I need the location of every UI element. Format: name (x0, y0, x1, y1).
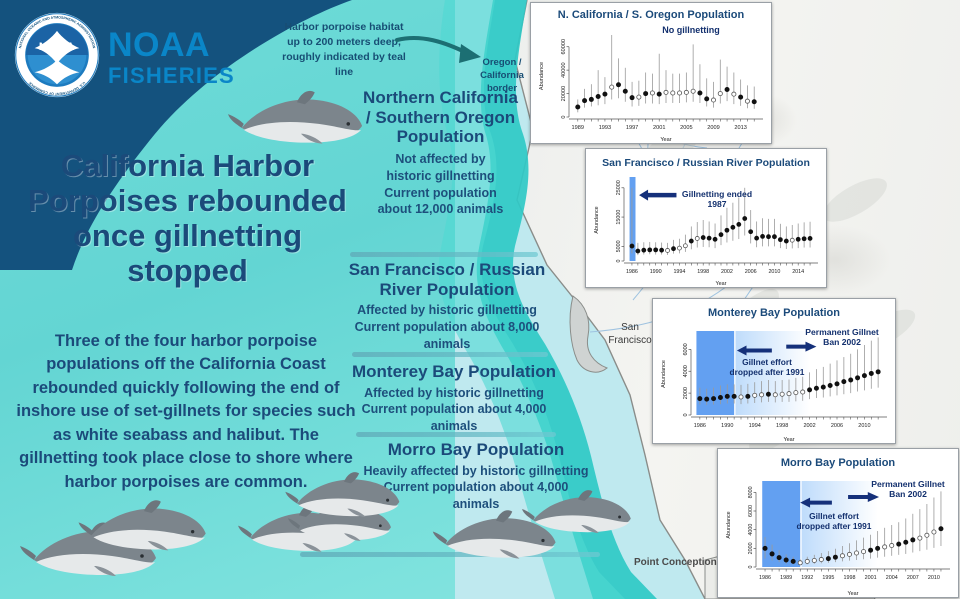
porpoise-illustration (522, 488, 634, 538)
section-divider (356, 432, 556, 437)
population-line: about 12,000 animals (363, 201, 518, 218)
y-tick-label: 20000 (561, 86, 567, 102)
data-point (739, 95, 743, 99)
x-tick-label: 2010 (768, 269, 780, 275)
population-title: San Francisco / Russian River Population (333, 260, 561, 299)
data-point (805, 559, 809, 563)
chart-annotation-no-gillnetting: No gillnetting (631, 25, 751, 36)
data-point (752, 100, 756, 104)
x-tick-label: 2004 (886, 575, 898, 581)
data-point (644, 91, 648, 95)
y-tick-label: 8000 (748, 486, 754, 498)
data-point (701, 236, 705, 240)
x-axis-label: Year (848, 591, 859, 597)
data-point (939, 527, 943, 531)
x-tick-label: 2009 (707, 125, 719, 131)
porpoise-illustration (78, 498, 210, 556)
data-point (883, 545, 887, 549)
data-point (739, 395, 743, 399)
chart-annotation-gillnetting-ended: Gillnetting ended 1987 (674, 189, 760, 210)
chart-card-sfrr: San Francisco / Russian River Population… (585, 148, 827, 288)
data-point (677, 246, 681, 250)
population-block-sfrr: San Francisco / Russian River Population… (333, 260, 561, 353)
data-point (582, 99, 586, 103)
x-tick-label: 1997 (626, 125, 638, 131)
data-point (904, 540, 908, 544)
data-point (784, 239, 788, 243)
data-point (576, 105, 580, 109)
logo-noaa-text: NOAA (108, 28, 235, 62)
x-tick-label: 2013 (734, 125, 746, 131)
data-point (677, 91, 681, 95)
x-tick-label: 2010 (858, 423, 870, 429)
data-point (807, 388, 811, 392)
section-divider (352, 352, 548, 357)
data-point (719, 233, 723, 237)
data-point (798, 561, 802, 565)
data-point (753, 393, 757, 397)
data-point (713, 237, 717, 241)
population-line: Not affected by (363, 151, 518, 168)
data-point (847, 552, 851, 556)
data-point (759, 393, 763, 397)
data-point (689, 239, 693, 243)
y-tick-label: 4000 (683, 365, 689, 377)
population-line: Affected by historic gillnetting (333, 302, 561, 319)
data-point (861, 550, 865, 554)
data-point (826, 557, 830, 561)
data-point (648, 248, 652, 252)
x-tick-label: 1986 (694, 423, 706, 429)
data-point (683, 244, 687, 248)
infographic-poster: NOAA NATIONAL OCEANIC AND ATMOSPHERIC AD… (0, 0, 960, 599)
noaa-logo: NOAA NATIONAL OCEANIC AND ATMOSPHERIC AD… (14, 10, 314, 100)
data-point (616, 83, 620, 87)
x-tick-label: 1994 (673, 269, 685, 275)
data-point (890, 543, 894, 547)
x-tick-label: 1993 (599, 125, 611, 131)
data-point (660, 248, 664, 252)
chart-title: N. California / S. Oregon Population (558, 9, 745, 21)
data-point (925, 533, 929, 537)
x-tick-label: 2002 (803, 423, 815, 429)
x-axis-label: Year (660, 137, 671, 143)
data-point (664, 90, 668, 94)
noaa-seal-icon: NOAA NATIONAL OCEANIC AND ATMOSPHERIC AD… (14, 12, 100, 98)
y-axis-label: Abundance (661, 360, 667, 388)
y-axis-label: Abundance (594, 206, 600, 233)
data-point (691, 89, 695, 93)
data-point (840, 554, 844, 558)
population-block-ncal: Northern California / Southern Oregon Po… (363, 88, 518, 218)
data-point (761, 234, 765, 238)
data-point (842, 380, 846, 384)
data-point (637, 95, 641, 99)
data-point (671, 91, 675, 95)
data-point (711, 98, 715, 102)
data-point (705, 397, 709, 401)
chart-ncal: N. California / S. Oregon Population0200… (531, 3, 771, 143)
logo-fisheries-text: FISHERIES (108, 64, 235, 88)
data-point (812, 558, 816, 562)
data-point (784, 558, 788, 562)
data-point (684, 90, 688, 94)
data-point (763, 546, 767, 550)
x-tick-label: 1998 (697, 269, 709, 275)
y-tick-label: 0 (616, 260, 622, 263)
data-point (732, 394, 736, 398)
data-point (725, 394, 729, 398)
x-tick-label: 2010 (928, 575, 940, 581)
chart-title: San Francisco / Russian River Population (602, 157, 810, 169)
data-point (911, 538, 915, 542)
population-line: Affected by historic gillnetting (340, 385, 568, 402)
data-point (862, 374, 866, 378)
data-point (794, 390, 798, 394)
data-point (773, 393, 777, 397)
chart-title: Morro Bay Population (781, 457, 896, 469)
data-point (603, 92, 607, 96)
data-point (725, 228, 729, 232)
x-tick-label: 1986 (626, 269, 638, 275)
x-tick-label: 1998 (776, 423, 788, 429)
chart-card-monterey: Monterey Bay Population0200040006000Abun… (652, 298, 896, 444)
data-point (732, 92, 736, 96)
data-point (918, 536, 922, 540)
data-point (589, 97, 593, 101)
data-point (642, 248, 646, 252)
x-tick-label: 2002 (721, 269, 733, 275)
y-tick-label: 6000 (748, 505, 754, 517)
x-tick-label: 1998 (843, 575, 855, 581)
chart-sfrr: San Francisco / Russian River Population… (586, 149, 826, 287)
map-label-san-francisco: San Francisco (600, 322, 660, 347)
data-point (833, 555, 837, 559)
x-tick-label: 1990 (650, 269, 662, 275)
chart-annotation-permanent-ban: Permanent Gillnet Ban 2002 (870, 479, 946, 500)
x-tick-label: 1994 (749, 423, 761, 429)
y-tick-label: 25000 (616, 180, 622, 195)
data-point (767, 235, 771, 239)
data-point (828, 383, 832, 387)
y-tick-label: 2000 (748, 542, 754, 554)
data-point (596, 94, 600, 98)
x-tick-label: 1995 (822, 575, 834, 581)
y-tick-label: 4000 (748, 524, 754, 536)
data-point (657, 92, 661, 96)
data-point (819, 557, 823, 561)
data-point (745, 99, 749, 103)
data-point (725, 87, 729, 91)
population-line: Current population (363, 185, 518, 202)
data-point (672, 247, 676, 251)
population-title: Monterey Bay Population (340, 362, 568, 382)
population-block-monterey: Monterey Bay Population Affected by hist… (340, 362, 568, 435)
population-line: Current population about 8,000 animals (333, 319, 561, 353)
data-point (755, 236, 759, 240)
chart-shade-band-sfrr (630, 177, 636, 261)
data-point (876, 370, 880, 374)
data-point (746, 394, 750, 398)
data-point (731, 225, 735, 229)
data-point (698, 91, 702, 95)
x-tick-label: 2007 (907, 575, 919, 581)
data-point (787, 392, 791, 396)
data-point (854, 551, 858, 555)
x-tick-label: 1989 (780, 575, 792, 581)
svg-text:NOAA: NOAA (39, 41, 75, 53)
data-point (821, 385, 825, 389)
chart-annotation-permanent-ban: Permanent Gillnet Ban 2002 (803, 327, 881, 348)
data-point (630, 244, 634, 248)
x-tick-label: 2001 (653, 125, 665, 131)
data-point (707, 236, 711, 240)
y-tick-label: 0 (748, 566, 754, 569)
y-tick-label: 6000 (683, 343, 689, 355)
data-point (636, 249, 640, 253)
data-point (869, 371, 873, 375)
data-point (791, 559, 795, 563)
chart-series-ncal (576, 35, 757, 112)
map-label-point-conception: Point Conception (634, 557, 726, 570)
data-point (623, 89, 627, 93)
y-tick-label: 0 (683, 413, 689, 416)
data-point (780, 392, 784, 396)
x-axis-label: Year (783, 437, 794, 443)
data-point (698, 397, 702, 401)
data-point (835, 382, 839, 386)
data-point (766, 392, 770, 396)
population-title: Northern California / Southern Oregon Po… (363, 88, 518, 147)
section-divider (350, 252, 538, 257)
x-tick-label: 2001 (865, 575, 877, 581)
y-axis-label: Abundance (539, 62, 545, 90)
data-point (718, 91, 722, 95)
data-point (876, 546, 880, 550)
x-tick-label: 2006 (745, 269, 757, 275)
data-point (808, 236, 812, 240)
data-point (650, 91, 654, 95)
y-tick-label: 2000 (683, 387, 689, 399)
chart-card-morro: Morro Bay Population02000400060008000Abu… (717, 448, 959, 598)
data-point (743, 217, 747, 221)
chart-annotation-effort-dropped: Gillnet effort dropped after 1991 (729, 357, 805, 377)
x-tick-label: 1990 (721, 423, 733, 429)
porpoise-illustration (284, 470, 404, 522)
chart-title: Monterey Bay Population (708, 307, 840, 319)
population-title: Morro Bay Population (360, 440, 592, 460)
x-tick-label: 2006 (831, 423, 843, 429)
data-point (897, 542, 901, 546)
data-point (932, 530, 936, 534)
data-point (711, 397, 715, 401)
data-point (770, 552, 774, 556)
data-point (630, 96, 634, 100)
data-point (849, 378, 853, 382)
data-point (801, 390, 805, 394)
x-tick-label: 1986 (759, 575, 771, 581)
porpoise-illustration (228, 88, 366, 150)
data-point (802, 237, 806, 241)
data-point (790, 238, 794, 242)
y-axis-label: Abundance (726, 511, 732, 538)
y-tick-label: 40000 (561, 62, 567, 78)
data-point (796, 237, 800, 241)
page-title: California Harbor Porpoises rebounded on… (10, 148, 365, 288)
x-tick-label: 2014 (792, 269, 804, 275)
x-tick-label: 1992 (801, 575, 813, 581)
data-point (737, 222, 741, 226)
y-tick-label: 5000 (616, 240, 622, 252)
y-tick-label: 60000 (561, 39, 567, 55)
population-line: historic gillnetting (363, 168, 518, 185)
chart-annotation-effort-dropped: Gillnet effort dropped after 1991 (796, 511, 872, 531)
population-line: Current population about 4,000 animals (340, 401, 568, 435)
data-point (749, 230, 753, 234)
data-point (610, 85, 614, 89)
data-point (772, 235, 776, 239)
y-tick-label: 15000 (616, 210, 622, 225)
data-point (778, 238, 782, 242)
data-point (654, 248, 658, 252)
data-point (814, 386, 818, 390)
x-axis-label: Year (716, 281, 727, 287)
data-point (868, 548, 872, 552)
x-tick-label: 1989 (572, 125, 584, 131)
chart-card-ncal: N. California / S. Oregon Population0200… (530, 2, 772, 144)
data-point (666, 248, 670, 252)
data-point (855, 376, 859, 380)
data-point (695, 236, 699, 240)
chart-shade-band-morro (762, 481, 800, 567)
data-point (705, 97, 709, 101)
y-tick-label: 0 (561, 115, 567, 118)
x-tick-label: 2005 (680, 125, 692, 131)
data-point (777, 556, 781, 560)
habitat-callout-text: Harbor porpoise habitat up to 200 meters… (278, 20, 410, 80)
data-point (718, 395, 722, 399)
